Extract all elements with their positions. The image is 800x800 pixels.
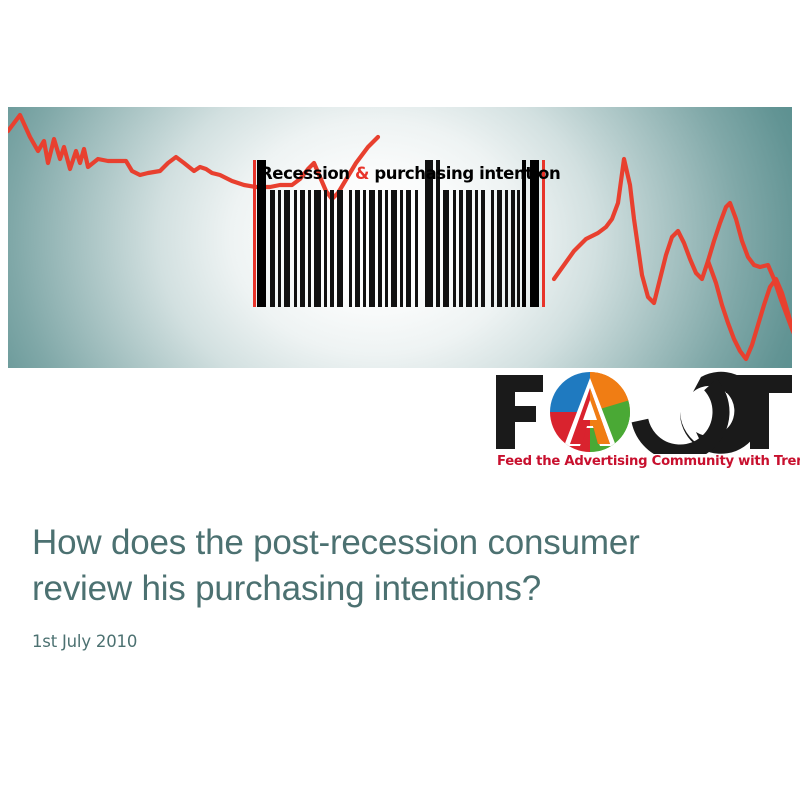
title-block: How does the post-recession consumer rev…: [32, 520, 762, 652]
recession-banner-image: Recession & purchasing intention: [8, 107, 792, 368]
trend-line-right: [554, 159, 792, 343]
barcode-caption-ampersand: &: [355, 164, 369, 183]
page-title: How does the post-recession consumer rev…: [32, 520, 737, 612]
fact-logo-tagline: Feed the Advertising Community with Tren…: [497, 454, 791, 469]
slide-date: 1st July 2010: [32, 632, 762, 652]
logo-letter-a-disc: [550, 372, 630, 452]
title-slide: Recession & purchasing intention: [0, 0, 800, 800]
trend-line-right-tail: [708, 261, 792, 359]
barcode-caption: Recession & purchasing intention: [260, 162, 538, 186]
logo-letter-f: [496, 375, 543, 449]
barcode-caption-prefix: Recession: [260, 164, 355, 183]
fact-logo: Feed the Advertising Community with Tren…: [494, 370, 794, 476]
fact-logo-wordmark: [494, 370, 794, 454]
barcode-caption-suffix: purchasing intention: [369, 164, 560, 183]
